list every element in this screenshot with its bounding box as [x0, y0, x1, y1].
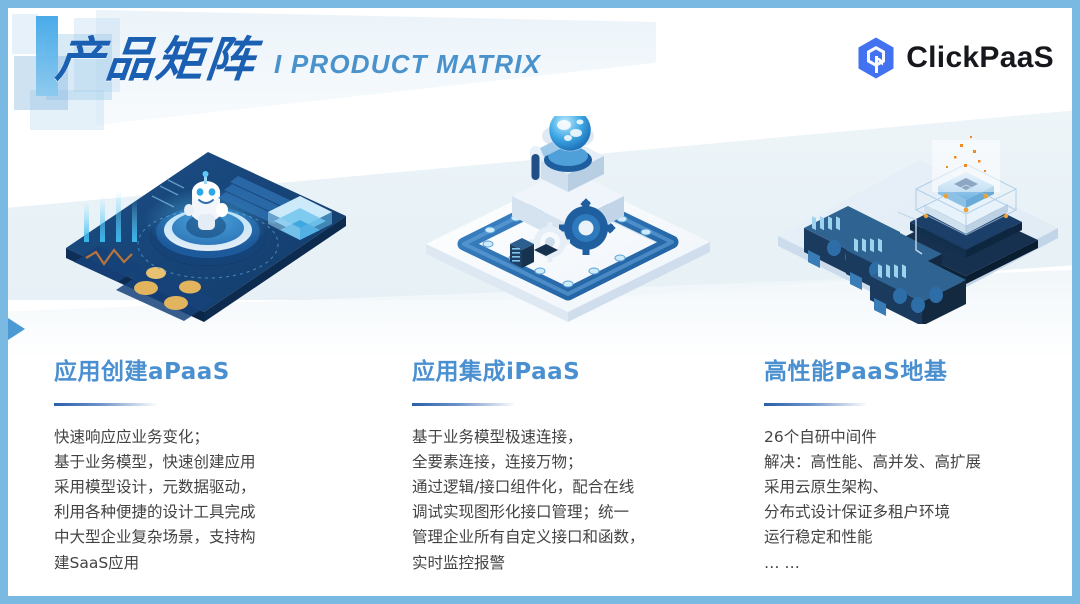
brand-logo: ClickPaaS	[856, 36, 1054, 80]
isometric-server-racks-pyramid-illustration	[770, 134, 1066, 324]
frame-border-top	[0, 0, 1080, 8]
isometric-dashboard-robot-illustration	[56, 140, 356, 326]
page-title-en: I PRODUCT MATRIX	[274, 49, 541, 84]
column-body: 快速响应应业务变化； 基于业务模型，快速创建应用 采用模型设计，元数据驱动， 利…	[54, 425, 360, 576]
frame-border-left	[0, 0, 8, 604]
column-divider	[54, 403, 158, 406]
column-body: 26个自研中间件 解决：高性能、高并发、高扩展 采用云原生架构、 分布式设计保证…	[764, 425, 1064, 576]
column-body: 基于业务模型极速连接， 全要素连接，连接万物； 通过逻辑/接口组件化，配合在线 …	[412, 425, 712, 576]
column-title: 应用创建aPaaS	[54, 352, 360, 386]
isometric-conveyor-gear-globe-illustration	[418, 116, 718, 328]
page-title-cn: 产品矩阵	[53, 36, 258, 84]
frame-border-bottom	[0, 596, 1080, 604]
feature-column-apaas: 应用创建aPaaS 快速响应应业务变化； 基于业务模型，快速创建应用 采用模型设…	[8, 352, 360, 576]
illustrations-row	[8, 96, 1072, 326]
frame-border-right	[1072, 0, 1080, 604]
feature-column-paas-foundation: 高性能PaaS地基 26个自研中间件 解决：高性能、高并发、高扩展 采用云原生架…	[712, 352, 1064, 576]
slide-root: 产品矩阵 I PRODUCT MATRIX ClickPaaS	[0, 0, 1080, 604]
logo-text: ClickPaaS	[906, 41, 1054, 75]
column-divider	[764, 403, 868, 406]
feature-column-ipaas: 应用集成iPaaS 基于业务模型极速连接， 全要素连接，连接万物； 通过逻辑/接…	[360, 352, 712, 576]
column-title: 高性能PaaS地基	[764, 352, 1064, 386]
page-title: 产品矩阵 I PRODUCT MATRIX	[56, 36, 541, 84]
hexagon-cube-logo-icon	[856, 36, 896, 80]
feature-columns: 应用创建aPaaS 快速响应应业务变化； 基于业务模型，快速创建应用 采用模型设…	[8, 352, 1072, 576]
column-divider	[412, 403, 516, 406]
column-title: 应用集成iPaaS	[412, 352, 712, 386]
